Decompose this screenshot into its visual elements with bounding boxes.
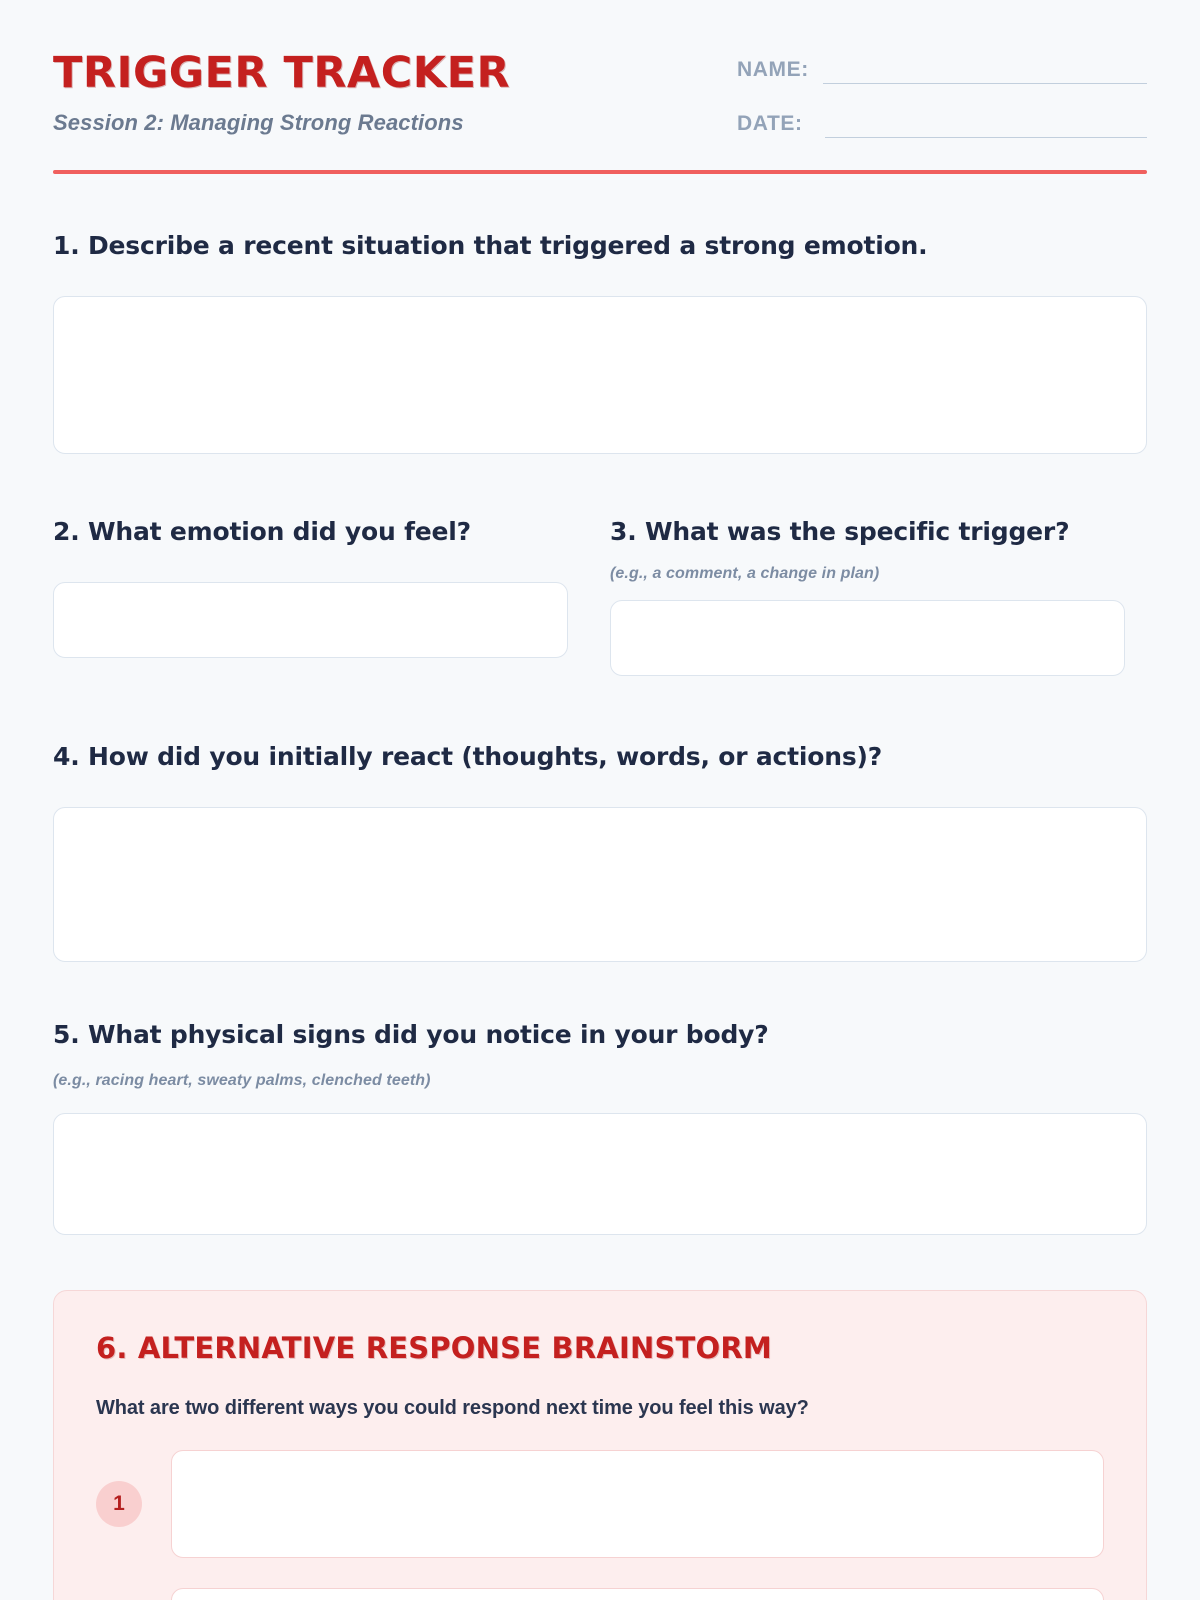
name-label: NAME: xyxy=(737,58,809,84)
question-5: 5. What physical signs did you notice in… xyxy=(53,1020,1147,1235)
question-4-label: 4. How did you initially react (thoughts… xyxy=(53,742,1147,771)
page-subtitle: Session 2: Managing Strong Reactions xyxy=(53,110,510,136)
question-2-label: 2. What emotion did you feel? xyxy=(53,517,568,546)
date-field-row: DATE: xyxy=(737,112,1147,138)
brainstorm-item-1-badge: 1 xyxy=(96,1481,142,1527)
brainstorm-item-2-input[interactable] xyxy=(171,1588,1104,1600)
question-1-input[interactable] xyxy=(53,296,1147,454)
page-title: TRIGGER TRACKER xyxy=(53,52,510,95)
question-5-input[interactable] xyxy=(53,1113,1147,1235)
date-label: DATE: xyxy=(737,112,803,138)
question-5-hint: (e.g., racing heart, sweaty palms, clenc… xyxy=(53,1072,1147,1090)
question-4: 4. How did you initially react (thoughts… xyxy=(53,742,1147,962)
question-2-input[interactable] xyxy=(53,582,568,658)
brainstorm-title: 6. ALTERNATIVE RESPONSE BRAINSTORM xyxy=(96,1331,1104,1365)
question-1-label: 1. Describe a recent situation that trig… xyxy=(53,231,1147,260)
brainstorm-section: 6. ALTERNATIVE RESPONSE BRAINSTORM What … xyxy=(53,1290,1147,1600)
worksheet-page: TRIGGER TRACKER Session 2: Managing Stro… xyxy=(0,0,1200,1600)
question-3-hint: (e.g., a comment, a change in plan) xyxy=(610,565,1125,583)
name-input[interactable] xyxy=(823,62,1147,84)
date-input[interactable] xyxy=(825,116,1147,138)
name-field-row: NAME: xyxy=(737,58,1147,84)
question-1: 1. Describe a recent situation that trig… xyxy=(53,231,1147,454)
list-item: 1 xyxy=(96,1450,1104,1558)
question-row-2-3: 2. What emotion did you feel? 3. What wa… xyxy=(53,517,1147,676)
question-2: 2. What emotion did you feel? xyxy=(53,517,568,676)
brainstorm-item-1-input[interactable] xyxy=(171,1450,1104,1558)
question-3: 3. What was the specific trigger? (e.g.,… xyxy=(610,517,1125,676)
list-item: 2 xyxy=(96,1588,1104,1600)
brainstorm-prompt: What are two different ways you could re… xyxy=(96,1397,1104,1420)
question-3-input[interactable] xyxy=(610,600,1125,676)
question-3-label: 3. What was the specific trigger? xyxy=(610,517,1125,546)
question-5-label: 5. What physical signs did you notice in… xyxy=(53,1020,1147,1049)
worksheet-header: TRIGGER TRACKER Session 2: Managing Stro… xyxy=(53,0,1147,138)
header-divider xyxy=(53,170,1147,174)
header-title-block: TRIGGER TRACKER Session 2: Managing Stro… xyxy=(53,48,510,136)
header-fields: NAME: DATE: xyxy=(737,48,1147,138)
question-4-input[interactable] xyxy=(53,807,1147,962)
